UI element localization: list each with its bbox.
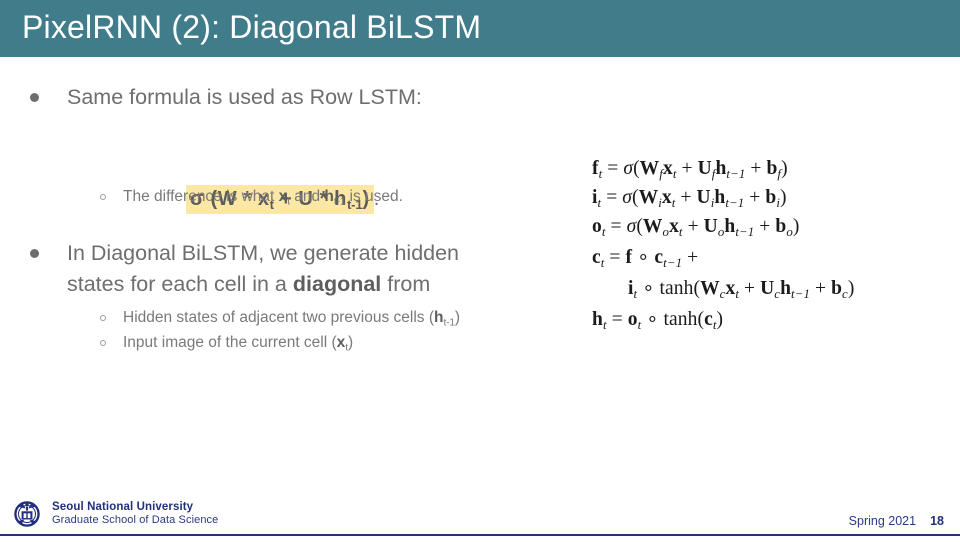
footer-school-name: Graduate School of Data Science — [52, 514, 218, 527]
sub2a-var-h-sub: t-1 — [444, 317, 455, 328]
equation-input-gate: it = σ(Wixt + Uiht−1 + bi) — [592, 187, 854, 209]
footer-university-name: Seoul National University — [52, 501, 218, 515]
sub2b-var-x: x — [337, 334, 346, 351]
bullet2-post-text: from — [381, 272, 430, 296]
lstm-equations: ft = σ(Wfxt + Ufht−1 + bf) it = σ(Wixt +… — [592, 158, 854, 338]
sub-bullet-marker-icon — [100, 194, 106, 200]
footer-name-block: Seoul National University Graduate Schoo… — [52, 501, 218, 528]
footer-page-number: 18 — [930, 514, 944, 528]
sub-bullet-difference: The difference is what xt and ht-1 is us… — [100, 185, 403, 208]
sub1-var-h: h — [324, 188, 333, 205]
footer-branding: Seoul National University Graduate Schoo… — [10, 497, 218, 531]
sub2a-post-text: ) — [455, 309, 460, 326]
equation-output-gate: ot = σ(Woxt + Uoht−1 + bo) — [592, 216, 854, 238]
sub2b-pre-text: Input image of the current cell ( — [123, 334, 337, 351]
equation-forget-gate: ft = σ(Wfxt + Ufht−1 + bf) — [592, 158, 854, 180]
page-title: PixelRNN (2): Diagonal BiLSTM — [22, 9, 481, 46]
sub-bullet-hidden-states-label: Hidden states of adjacent two previous c… — [123, 306, 460, 329]
sub-bullet-input-image-label: Input image of the current cell (xt) — [123, 331, 353, 354]
sub2b-post-text: ) — [348, 334, 353, 351]
footer-divider — [0, 534, 960, 536]
sub2a-var-h: h — [434, 309, 443, 326]
sub-bullet-marker-icon — [100, 340, 106, 346]
sub1-pre-text: The difference is what — [123, 188, 279, 205]
sub-bullet-marker-icon — [100, 315, 106, 321]
footer-term: Spring 2021 — [849, 514, 916, 528]
sub1-var-x: x — [279, 188, 288, 205]
bullet-same-formula: Same formula is used as Row LSTM: — [30, 82, 422, 113]
snu-crest-logo-icon — [10, 497, 44, 531]
equation-cell-state-line1: ct = f ∘ ct−1 + — [592, 245, 854, 269]
equation-hidden-state: ht = ot ∘ tanh(ct) — [592, 307, 854, 331]
bullet-marker-icon — [30, 249, 39, 258]
slide: PixelRNN (2): Diagonal BiLSTM Same formu… — [0, 0, 960, 542]
sub1-post-text: is used. — [345, 188, 403, 205]
equation-cell-state-line2: it ∘ tanh(Wcxt + Ucht−1 + bc) — [592, 276, 854, 300]
bullet2-bold-diagonal: diagonal — [293, 272, 381, 296]
sub2a-pre-text: Hidden states of adjacent two previous c… — [123, 309, 434, 326]
sub-bullet-input-image: Input image of the current cell (xt) — [100, 331, 353, 354]
sub1-var-h-sub: t-1 — [334, 196, 345, 207]
sub-bullet-hidden-states: Hidden states of adjacent two previous c… — [100, 306, 460, 329]
bullet-same-formula-label: Same formula is used as Row LSTM: — [67, 82, 422, 113]
bullet-marker-icon — [30, 93, 39, 102]
bullet-diagonal-bilstm-label: In Diagonal BiLSTM, we generate hidden s… — [67, 238, 497, 300]
sub1-mid-text: and — [290, 188, 324, 205]
sub-bullet-difference-label: The difference is what xt and ht-1 is us… — [123, 185, 403, 208]
bullet-diagonal-bilstm: In Diagonal BiLSTM, we generate hidden s… — [30, 238, 497, 300]
footer-meta: Spring 2021 18 — [849, 514, 944, 528]
slide-body-left: Same formula is used as Row LSTM: σ (W *… — [0, 57, 560, 487]
